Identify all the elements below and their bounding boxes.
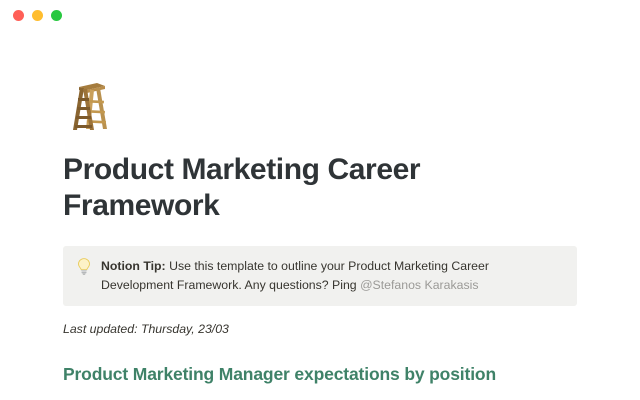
minimize-window-button[interactable] [32, 10, 43, 21]
callout-label: Notion Tip: [101, 259, 166, 273]
page-title[interactable]: Product Marketing Career Framework [63, 152, 577, 224]
window-title-bar [0, 0, 640, 30]
section-heading-expectations[interactable]: Product Marketing Manager expectations b… [63, 363, 577, 386]
ladder-icon[interactable] [63, 74, 577, 136]
callout-text: Notion Tip: Use this template to outline… [101, 257, 563, 295]
document-page: Product Marketing Career Framework Notio… [0, 74, 640, 400]
light-bulb-icon [75, 257, 92, 275]
last-updated-text[interactable]: Last updated: Thursday, 23/03 [63, 320, 577, 339]
maximize-window-button[interactable] [51, 10, 62, 21]
callout-body-line2-prefix: Any questions? Ping [245, 278, 361, 292]
traffic-light-controls [13, 10, 62, 21]
user-mention[interactable]: @Stefanos Karakasis [360, 278, 478, 292]
notion-tip-callout[interactable]: Notion Tip: Use this template to outline… [63, 246, 577, 306]
close-window-button[interactable] [13, 10, 24, 21]
